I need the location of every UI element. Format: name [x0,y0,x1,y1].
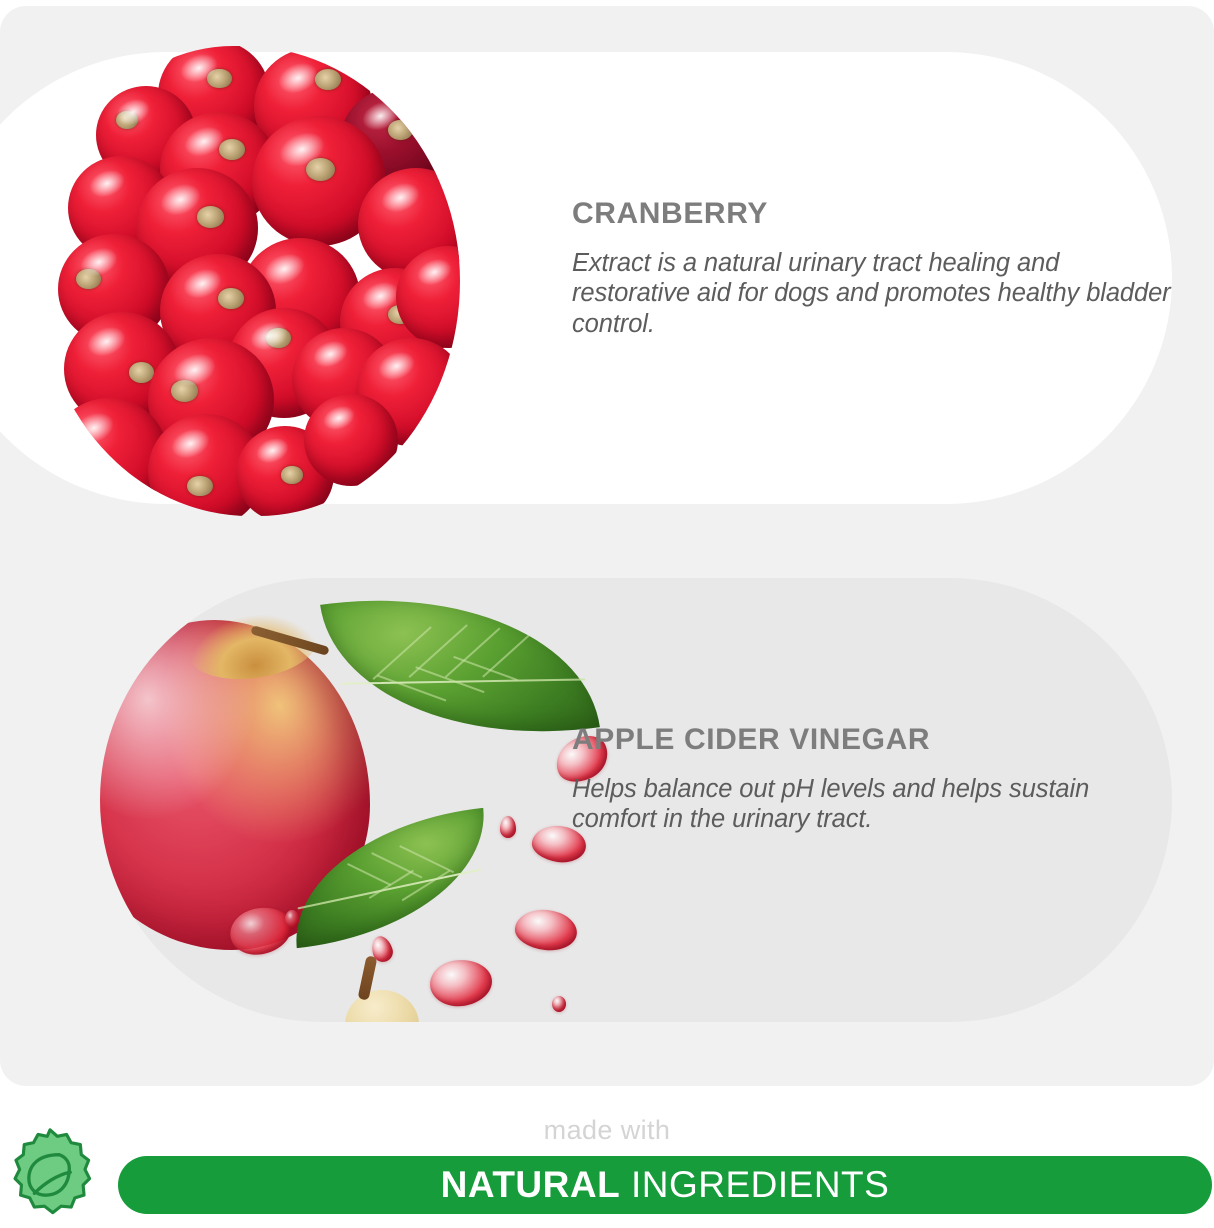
juice-droplet [552,996,566,1012]
card-title-apple-cider-vinegar: APPLE CIDER VINEGAR [572,724,1172,756]
banner-text: NATURAL INGREDIENTS [441,1164,890,1206]
made-with-label: made with [0,1115,1214,1146]
natural-ingredients-banner: NATURAL INGREDIENTS [118,1156,1212,1214]
card-title-cranberry: CRANBERRY [572,198,1172,230]
content-panel: CRANBERRY Extract is a natural urinary t… [0,6,1214,1086]
cranberry-cluster-image [98,46,518,516]
juice-droplet [513,907,579,953]
juice-droplet [500,816,516,838]
banner-strong-text: NATURAL [441,1164,621,1205]
card-description-apple-cider-vinegar: Helps balance out pH levels and helps su… [572,774,1172,835]
juice-droplet [285,910,299,928]
card-description-cranberry: Extract is a natural urinary tract heali… [572,248,1172,340]
apple-cider-vinegar-text-block: APPLE CIDER VINEGAR Helps balance out pH… [572,724,1172,835]
apple-slice-partial [345,990,419,1022]
leaf-seal-icon [4,1126,96,1222]
leaf-icon-top [320,578,600,763]
juice-droplet [428,957,494,1009]
cranberry-text-block: CRANBERRY Extract is a natural urinary t… [572,198,1172,339]
banner-light-text: INGREDIENTS [631,1164,889,1205]
